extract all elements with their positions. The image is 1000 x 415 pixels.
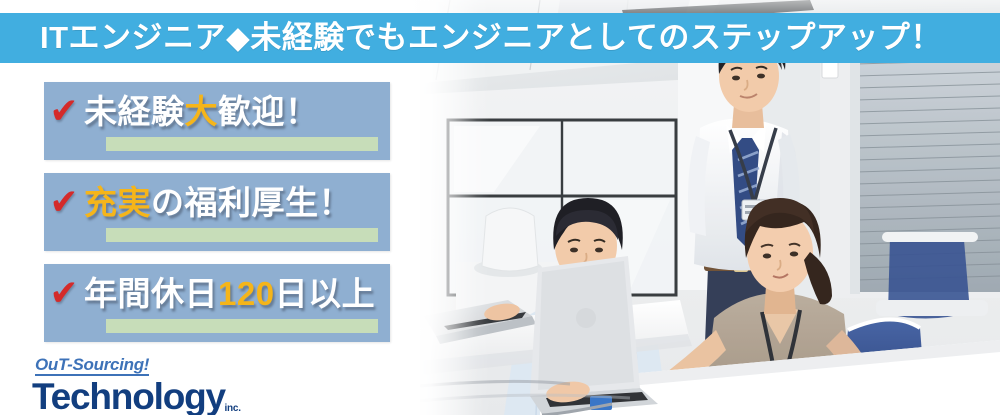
feature-panel-3: ✔ 年間休日120日以上 <box>44 264 390 342</box>
check-icon: ✔ <box>45 180 83 224</box>
logo-inc-suffix: inc. <box>224 404 240 414</box>
feature-1-pre: 未経験 <box>84 93 185 130</box>
feature-underline-3 <box>106 319 378 333</box>
feature-text-3: 年間休日120日以上 <box>84 271 390 317</box>
logo-wordmark: Technologyinc. <box>32 378 225 415</box>
feature-text-2: 充実の福利厚生！ <box>84 180 390 226</box>
check-icon: ✔ <box>45 271 83 315</box>
logo-tagline: OuT-Sourcing! <box>35 356 149 376</box>
header-band: ITエンジニア◆未経験でもエンジニアとしてのステップアップ！ <box>0 13 1000 63</box>
feature-2-post: の福利厚生！ <box>151 184 352 221</box>
feature-text-1: 未経験大歓迎！ <box>84 89 390 135</box>
feature-panel-2: ✔ 充実の福利厚生！ <box>44 173 390 251</box>
company-logo: OuT-Sourcing! Technologyinc. <box>32 356 225 415</box>
feature-underline-1 <box>106 137 378 151</box>
feature-3-post: 日以上 <box>275 275 376 312</box>
feature-3-highlight: 120 <box>218 275 275 312</box>
check-icon: ✔ <box>45 89 83 133</box>
page-title: ITエンジニア◆未経験でもエンジニアとしてのステップアップ！ <box>0 13 942 63</box>
feature-1-highlight: 大 <box>185 93 219 130</box>
job-ad-banner: ITエンジニア◆未経験でもエンジニアとしてのステップアップ！ ✔ 未経験大歓迎！… <box>0 0 1000 415</box>
feature-underline-2 <box>106 228 378 242</box>
logo-wordmark-text: Technology <box>32 376 225 415</box>
feature-2-highlight: 充実 <box>84 184 151 221</box>
feature-panel-1: ✔ 未経験大歓迎！ <box>44 82 390 160</box>
feature-3-pre: 年間休日 <box>84 275 218 312</box>
feature-1-post: 歓迎！ <box>218 93 319 130</box>
